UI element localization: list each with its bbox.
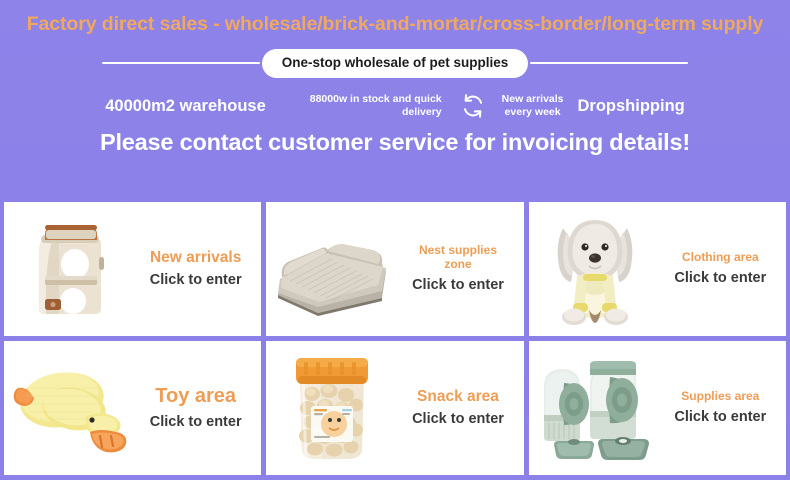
pet-bed-mattress-image: [266, 202, 398, 336]
category-card-new-arrivals[interactable]: New arrivals Click to enter: [4, 202, 261, 336]
feature-dropshipping: Dropshipping: [578, 97, 685, 115]
card-cta-toy-area[interactable]: Click to enter: [150, 415, 242, 431]
category-card-nest-supplies-zone[interactable]: Nest supplies zone Click to enter: [266, 202, 523, 336]
card-text-snack-area: Snack area Click to enter: [398, 388, 523, 428]
category-card-snack-area[interactable]: Snack area Click to enter: [266, 341, 523, 475]
divider-left: [102, 62, 260, 64]
card-cta-supplies-area[interactable]: Click to enter: [674, 410, 766, 426]
feature-new-arrivals: New arrivals every week: [502, 93, 564, 119]
dog-in-clothing-image: [529, 202, 661, 336]
card-text-supplies-area: Supplies area Click to enter: [661, 390, 786, 426]
category-card-supplies-area[interactable]: Supplies area Click to enter: [529, 341, 786, 475]
category-grid: New arrivals Click to enter: [0, 202, 790, 475]
feature-stock-delivery: 88000w in stock and quick delivery: [310, 93, 442, 119]
tagline-badge: One-stop wholesale of pet supplies: [262, 49, 529, 78]
card-category-toy-area: Toy area: [155, 385, 236, 407]
card-text-toy-area: Toy area Click to enter: [136, 385, 261, 430]
water-food-dispensers-image: [529, 341, 661, 475]
card-category-nest-supplies-zone: Nest supplies zone: [419, 244, 497, 271]
category-card-clothing-area[interactable]: Clothing area Click to enter: [529, 202, 786, 336]
card-text-nest-supplies-zone: Nest supplies zone Click to enter: [398, 244, 523, 294]
card-category-snack-area: Snack area: [417, 388, 499, 405]
card-category-supplies-area: Supplies area: [681, 390, 759, 403]
badge-row: One-stop wholesale of pet supplies: [0, 49, 790, 78]
card-cta-clothing-area[interactable]: Click to enter: [674, 271, 766, 287]
card-text-new-arrivals: New arrivals Click to enter: [136, 249, 261, 289]
card-category-clothing-area: Clothing area: [682, 251, 759, 264]
feature-strip: 40000m2 warehouse 88000w in stock and qu…: [0, 91, 790, 121]
divider-right: [530, 62, 688, 64]
treat-jar-image: [266, 341, 398, 475]
card-cta-new-arrivals[interactable]: Click to enter: [150, 273, 242, 289]
card-cta-snack-area[interactable]: Click to enter: [412, 412, 504, 428]
page-headline: Factory direct sales - wholesale/brick-a…: [0, 0, 790, 37]
promo-banner: Factory direct sales - wholesale/brick-a…: [0, 0, 790, 480]
duck-plush-toy-image: [4, 341, 136, 475]
card-cta-nest-supplies-zone[interactable]: Click to enter: [412, 278, 504, 294]
category-card-toy-area[interactable]: Toy area Click to enter: [4, 341, 261, 475]
card-text-clothing-area: Clothing area Click to enter: [661, 251, 786, 287]
card-category-new-arrivals: New arrivals: [150, 249, 241, 266]
sync-refresh-icon: [458, 91, 488, 121]
cat-tower-condo-image: [4, 202, 136, 336]
invoice-notice: Please contact customer service for invo…: [0, 130, 790, 156]
feature-warehouse: 40000m2 warehouse: [105, 97, 266, 115]
